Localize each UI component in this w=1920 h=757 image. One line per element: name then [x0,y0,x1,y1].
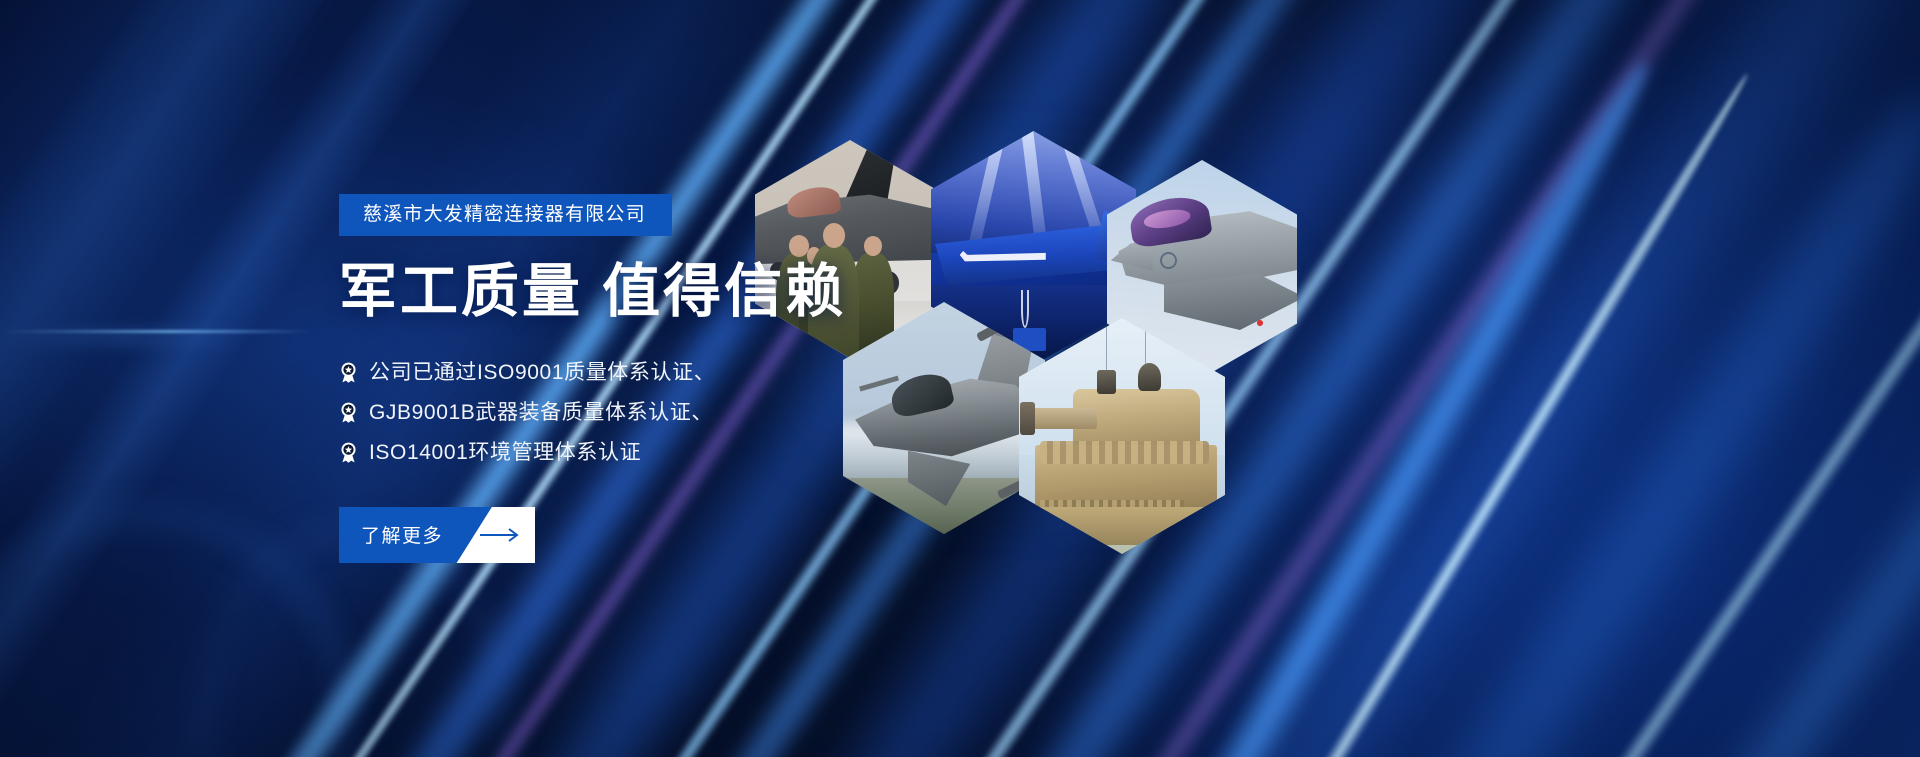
tank-optic [1097,370,1116,394]
hero-content: 慈溪市大发精密连接器有限公司 军工质量 值得信赖 公司已通过ISO9001质量体… [339,0,1099,757]
medal-icon [339,362,358,383]
list-item: GJB9001B武器装备质量体系认证、 [339,393,1099,433]
learn-more-label: 了解更多 [339,507,457,563]
list-item-label: GJB9001B武器装备质量体系认证、 [369,402,713,423]
list-item-label: 公司已通过ISO9001质量体系认证、 [369,362,715,383]
fan-streak-5 [1413,100,1920,757]
company-name-badge: 慈溪市大发精密连接器有限公司 [339,194,672,236]
arrow-right-icon [457,507,535,563]
list-item: 公司已通过ISO9001质量体系认证、 [339,353,1099,393]
list-item: ISO14001环境管理体系认证 [339,433,1099,473]
medal-icon [339,402,358,423]
jet-marker-light [1257,320,1263,326]
list-item-label: ISO14001环境管理体系认证 [369,442,641,463]
fan-streak-4 [1307,105,1920,757]
medal-icon [339,442,358,463]
fan-streak-6 [1564,80,1920,757]
jet-roundel [1160,252,1177,269]
certification-list: 公司已通过ISO9001质量体系认证、 GJB9001B武器装备质量体系认证、 [339,353,1099,473]
tank-commander-sight [1138,363,1161,391]
learn-more-button[interactable]: 了解更多 [339,507,535,563]
horizontal-glow-line [0,330,310,333]
hero-headline: 军工质量 值得信赖 [339,260,1099,325]
hero-banner: 慈溪市大发精密连接器有限公司 军工质量 值得信赖 公司已通过ISO9001质量体… [0,0,1920,757]
